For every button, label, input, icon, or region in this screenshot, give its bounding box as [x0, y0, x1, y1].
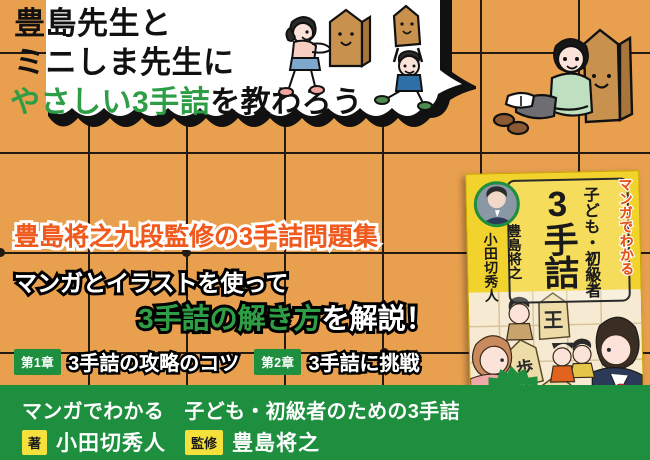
promo-line3: 3手詰の解き方を解説！	[138, 297, 434, 337]
kids-playing-illustration	[262, 4, 452, 114]
reader-illustration	[478, 2, 648, 162]
chapter-2-title-wrap: 3手詰に挑戦 3手詰に挑戦	[308, 347, 419, 376]
chapter-1-title-wrap: 3手詰の攻略のコツ 3手詰の攻略のコツ	[68, 347, 239, 376]
book-title-sub: のための	[587, 252, 597, 288]
chapter-1-badge: 第1章	[14, 349, 61, 375]
supervisor-badge: 監修	[185, 430, 223, 455]
credits-row: 著 小田切秀人 監修 豊島将之	[22, 427, 320, 457]
author-name: 小田切秀人	[56, 427, 166, 457]
chapter-2-title: 3手詰に挑戦	[308, 347, 419, 376]
author-badge: 著	[22, 430, 47, 455]
promo-line2: マンガとイラストを使って	[14, 264, 288, 298]
poster-root: 豊島先生と ミニしま先生に やさしい3手詰を教わろう	[0, 0, 650, 460]
promo-line3-green: 3手詰の解き方	[138, 303, 322, 334]
chapter-2-badge: 第2章	[254, 349, 301, 375]
supervisor-name: 豊島将之	[232, 427, 320, 457]
svg-text:王: 王	[543, 310, 563, 332]
book-author-name: 小田切秀人	[483, 232, 498, 302]
chapter-1-title: 3手詰の攻略のコツ	[68, 347, 239, 376]
book-full-title: マンガでわかる 子ども・初級者のための3手詰	[22, 395, 460, 424]
chapter-row: 第1章 3手詰の攻略のコツ 3手詰の攻略のコツ 第2章 3手詰に挑戦 3手詰に挑…	[14, 347, 420, 376]
headline-line-3-green: やさしい3手詰	[10, 86, 210, 119]
promo-headline: 豊島将之九段監修の3手詰問題集	[14, 217, 378, 253]
book-title-big: 3手詰	[539, 185, 576, 289]
book-supervisor-name: 豊島将之	[507, 224, 522, 280]
bottom-green-band: マンガでわかる 子ども・初級者のための3手詰 著 小田切秀人 監修 豊島将之	[0, 385, 650, 460]
book-ribbon: マンガでわかる	[618, 177, 634, 275]
promo-line3-white: を解説！	[322, 303, 434, 334]
